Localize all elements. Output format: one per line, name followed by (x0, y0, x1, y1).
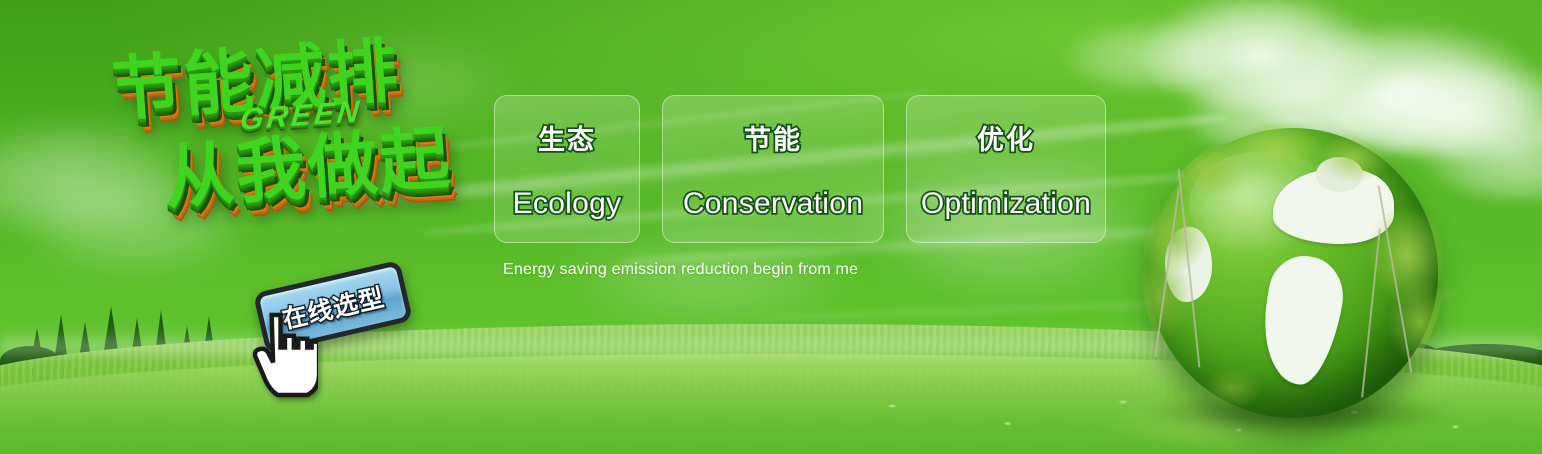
green-globe-icon (1148, 128, 1438, 418)
cloud-icon (1420, 110, 1542, 200)
feature-card-cn-label: 节能 (744, 118, 802, 157)
headline-3d: 节能减排 GREEN 从我做起 (97, 29, 487, 285)
feature-card-en-label: Optimization (921, 187, 1091, 221)
feature-card-en-label: Conservation (683, 187, 863, 221)
online-selection-label: 在线选型 (278, 278, 387, 336)
cloud-icon (1140, 0, 1380, 110)
green-energy-banner: 节能减排 GREEN 从我做起 在线选型 生态 Ecology 节能 Conse… (0, 0, 1542, 454)
feature-card-cn-label: 优化 (977, 118, 1035, 157)
continent-south-america (1253, 250, 1349, 389)
feature-card-ecology[interactable]: 生态 Ecology (494, 95, 640, 243)
feature-card-conservation[interactable]: 节能 Conservation (662, 95, 884, 243)
continent-greenland (1316, 157, 1362, 192)
feature-card-optimization[interactable]: 优化 Optimization (906, 95, 1106, 243)
tagline: Energy saving emission reduction begin f… (503, 261, 858, 279)
cloud-icon (1060, 20, 1240, 90)
headline-line-2: 从我做起 (162, 119, 483, 215)
feature-card-list: 生态 Ecology 节能 Conservation 优化 Optimizati… (494, 95, 1106, 243)
feature-card-en-label: Ecology (513, 187, 622, 221)
feature-card-cn-label: 生态 (538, 118, 596, 157)
